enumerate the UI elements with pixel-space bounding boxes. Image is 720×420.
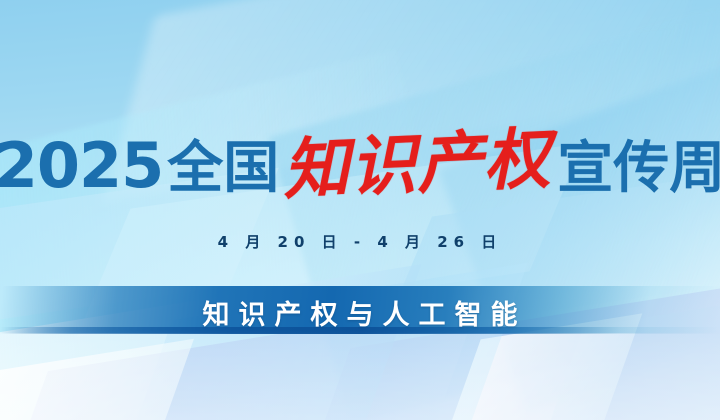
headline: 2025 全国 知识产权 宣传周 bbox=[0, 128, 720, 208]
headline-year: 2025 bbox=[0, 135, 163, 197]
headline-suffix: 宣传周 bbox=[557, 140, 720, 196]
headline-highlight: 知识产权 bbox=[282, 125, 553, 203]
ip-week-banner: 2025 全国 知识产权 宣传周 4 月 20 日 - 4 月 26 日 知识产… bbox=[0, 0, 720, 420]
bottom-glow bbox=[0, 330, 720, 420]
headline-prefix: 全国 bbox=[167, 140, 279, 196]
banner-content: 2025 全国 知识产权 宣传周 4 月 20 日 - 4 月 26 日 知识产… bbox=[0, 0, 720, 420]
date-range: 4 月 20 日 - 4 月 26 日 bbox=[0, 231, 720, 252]
subtitle-text: 知识产权与人工智能 bbox=[0, 292, 720, 332]
